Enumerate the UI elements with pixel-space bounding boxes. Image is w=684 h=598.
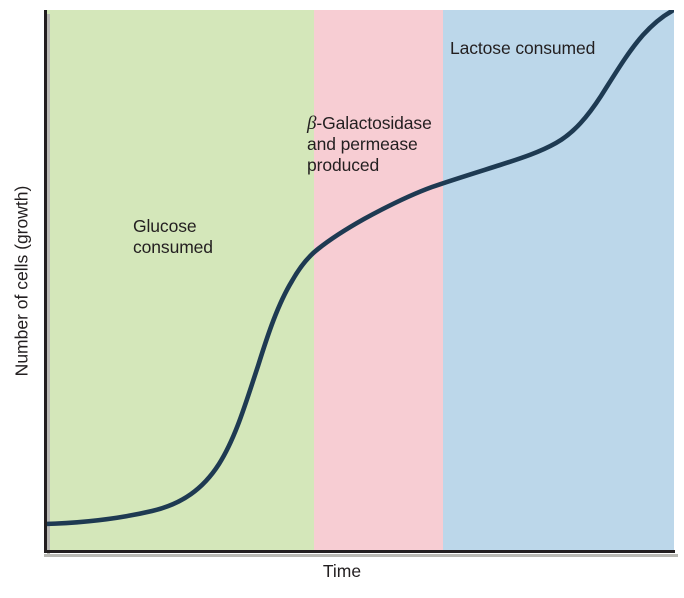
band-glucose — [44, 10, 314, 551]
diauxic-growth-figure: Glucose consumed β-Galactosidase and per… — [0, 0, 684, 598]
annotation-lactose-consumed: Lactose consumed — [450, 38, 595, 59]
phase-bands — [44, 10, 674, 551]
annotation-glucose-consumed: Glucose consumed — [133, 216, 213, 258]
beta-symbol: β — [307, 113, 316, 134]
y-axis-title: Number of cells (growth) — [12, 186, 33, 377]
growth-curve-chart — [0, 0, 684, 598]
x-axis-title: Time — [0, 561, 684, 582]
band-betagalactosidase — [314, 10, 443, 551]
annotation-beta-galactosidase-produced: β-Galactosidase and permease produced — [307, 113, 432, 176]
annotation-beta-galactosidase-text: -Galactosidase and permease produced — [307, 113, 432, 175]
band-lactose — [443, 10, 674, 551]
y-axis-title-wrap: Number of cells (growth) — [0, 0, 44, 598]
